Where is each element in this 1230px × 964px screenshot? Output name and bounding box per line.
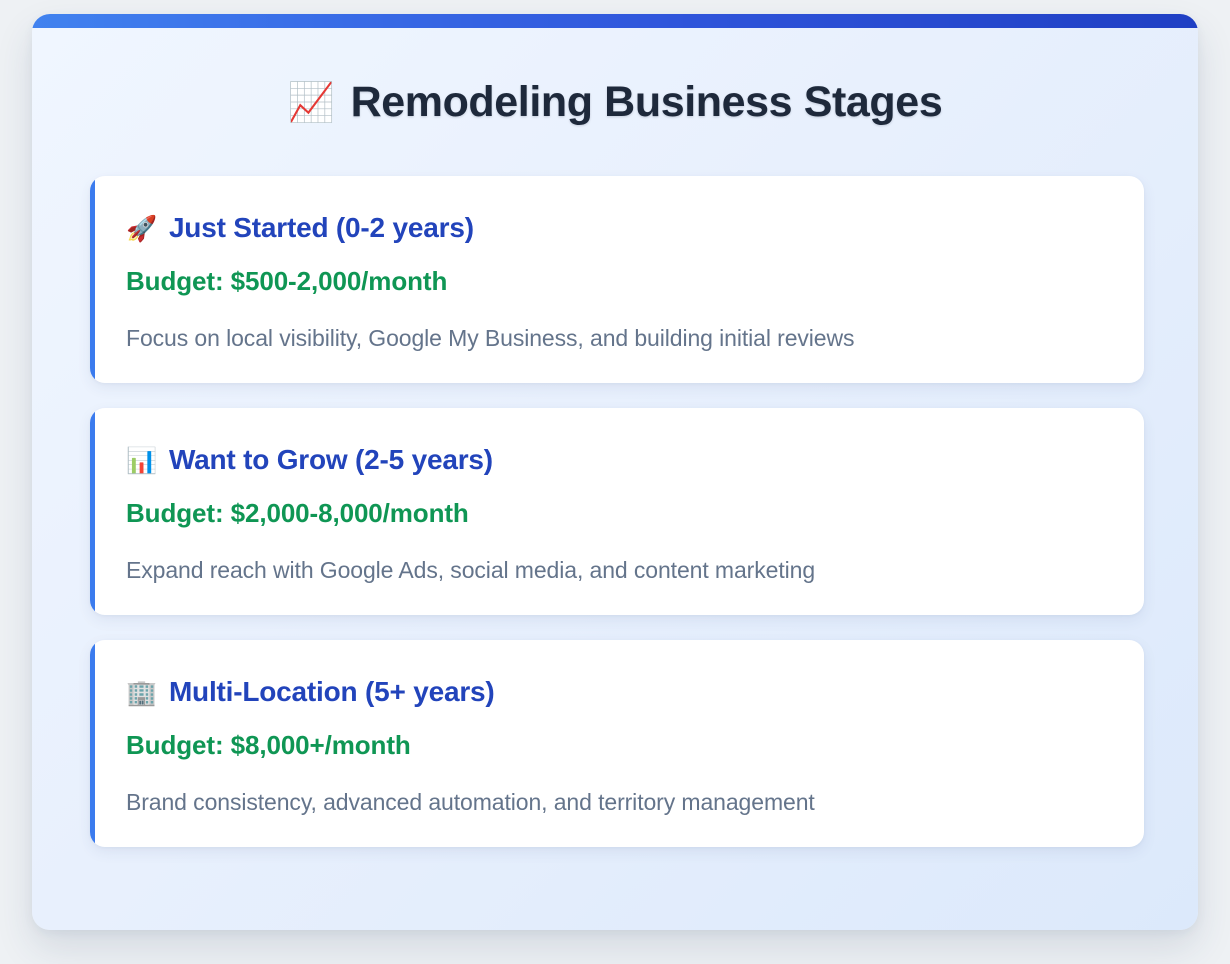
chart-increasing-icon: 📈 <box>288 83 335 121</box>
card-accent-bar <box>90 408 95 615</box>
panel-header: 📈 Remodeling Business Stages <box>32 28 1198 176</box>
card-accent-bar <box>90 640 95 847</box>
office-building-icon: 🏢 <box>126 680 157 705</box>
stage-card[interactable]: 🏢 Multi-Location (5+ years) Budget: $8,0… <box>90 640 1144 847</box>
stage-card-heading: 📊 Want to Grow (2-5 years) <box>126 444 1110 476</box>
panel-top-accent-bar <box>32 14 1198 28</box>
page-title: 📈 Remodeling Business Stages <box>288 78 943 127</box>
bar-chart-icon: 📊 <box>126 448 157 473</box>
stage-card-heading: 🏢 Multi-Location (5+ years) <box>126 676 1110 708</box>
card-accent-bar <box>90 176 95 383</box>
stage-card-heading-text: Want to Grow (2-5 years) <box>169 444 493 476</box>
stage-card-description: Brand consistency, advanced automation, … <box>126 789 1110 816</box>
rocket-icon: 🚀 <box>126 216 157 241</box>
page-title-text: Remodeling Business Stages <box>351 78 943 127</box>
stage-card-heading-text: Just Started (0-2 years) <box>169 212 474 244</box>
business-stages-panel: 📈 Remodeling Business Stages 🚀 Just Star… <box>32 14 1198 930</box>
stage-card[interactable]: 🚀 Just Started (0-2 years) Budget: $500-… <box>90 176 1144 383</box>
stage-card-description: Expand reach with Google Ads, social med… <box>126 557 1110 584</box>
stage-card-budget: Budget: $2,000-8,000/month <box>126 498 1110 529</box>
stage-card-heading: 🚀 Just Started (0-2 years) <box>126 212 1110 244</box>
stage-card-list: 🚀 Just Started (0-2 years) Budget: $500-… <box>90 176 1144 847</box>
stage-card-budget: Budget: $8,000+/month <box>126 730 1110 761</box>
stage-card-description: Focus on local visibility, Google My Bus… <box>126 325 1110 352</box>
screenshot-root: 📈 Remodeling Business Stages 🚀 Just Star… <box>0 0 1230 964</box>
stage-card-heading-text: Multi-Location (5+ years) <box>169 676 495 708</box>
stage-card-budget: Budget: $500-2,000/month <box>126 266 1110 297</box>
stage-card[interactable]: 📊 Want to Grow (2-5 years) Budget: $2,00… <box>90 408 1144 615</box>
